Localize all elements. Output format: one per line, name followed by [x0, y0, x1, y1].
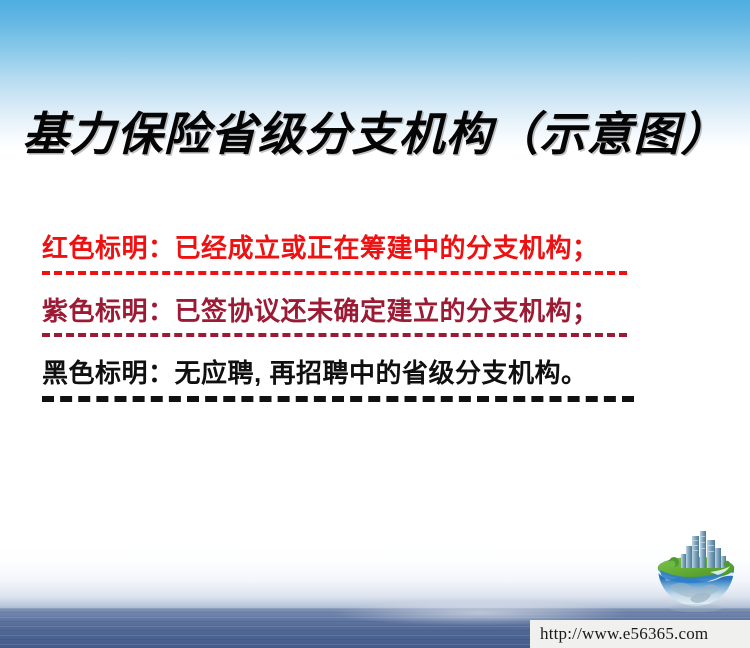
watermark-bar: http://www.e56365.com [530, 620, 750, 648]
legend-label-black: 黑色标明： [42, 358, 175, 388]
background-sea-haze [0, 540, 750, 612]
legend-row-red: 红色标明：已经成立或正在筹建中的分支机构； [42, 234, 642, 263]
legend-block: 红色标明：已经成立或正在筹建中的分支机构； 紫色标明：已签协议还未确定建立的分支… [42, 234, 642, 402]
legend-desc-purple: 已签协议还未确定建立的分支机构； [175, 296, 599, 326]
legend-desc-red: 已经成立或正在筹建中的分支机构； [175, 233, 599, 263]
watermark-url: http://www.e56365.com [540, 624, 708, 644]
page-title: 基力保险省级分支机构（示意图） [0, 98, 750, 164]
legend-desc-black: 无应聘, 再招聘中的省级分支机构。 [175, 358, 588, 388]
legend-row-purple: 紫色标明：已签协议还未确定建立的分支机构； [42, 297, 642, 326]
legend-gap-2 [42, 337, 642, 359]
globe-city-logo [648, 528, 744, 620]
legend-label-purple: 紫色标明： [42, 296, 175, 326]
legend-label-red: 红色标明： [42, 233, 175, 263]
legend-gap-1 [42, 275, 642, 297]
legend-divider-black [42, 396, 634, 402]
slide-canvas: 基力保险省级分支机构（示意图） 红色标明：已经成立或正在筹建中的分支机构； 紫色… [0, 0, 750, 648]
legend-row-black: 黑色标明：无应聘, 再招聘中的省级分支机构。 [42, 359, 642, 388]
